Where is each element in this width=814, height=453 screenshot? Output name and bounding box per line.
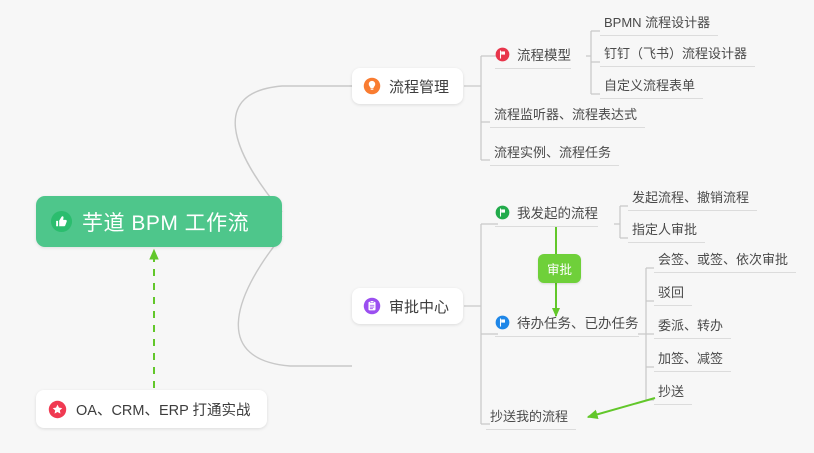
leaf-node[interactable]: BPMN 流程设计器 (600, 12, 718, 36)
lightbulb-pin-icon (363, 77, 381, 95)
thumbs-up-icon (50, 210, 73, 233)
leaf-node[interactable]: 抄送我的流程 (486, 406, 576, 430)
leaf-node[interactable]: 驳回 (654, 282, 692, 306)
flag-icon (495, 47, 510, 62)
branch-node-process-management[interactable]: 流程管理 (352, 68, 463, 104)
mindmap-canvas: 芋道 BPM 工作流 流程管理 流程模型 BPMN 流程设计器 钉钉（飞书）流程… (0, 0, 814, 453)
root-node[interactable]: 芋道 BPM 工作流 (36, 196, 282, 247)
node-label: 流程模型 (517, 44, 571, 64)
leaf-node[interactable]: 加签、减签 (654, 348, 731, 372)
leaf-node[interactable]: 流程监听器、流程表达式 (490, 104, 645, 128)
leaf-node[interactable]: 流程实例、流程任务 (490, 142, 619, 166)
note-label: OA、CRM、ERP 打通实战 (76, 399, 251, 420)
leaf-node[interactable]: 指定人审批 (628, 219, 705, 243)
branch-label: 审批中心 (389, 296, 449, 317)
leaf-node[interactable]: 发起流程、撤销流程 (628, 187, 757, 211)
leaf-node[interactable]: 钉钉（飞书）流程设计器 (600, 43, 755, 67)
flag-icon (495, 205, 510, 220)
flag-icon (495, 315, 510, 330)
root-label: 芋道 BPM 工作流 (82, 207, 249, 237)
leaf-node[interactable]: 抄送 (654, 381, 692, 405)
node-todo-done-tasks[interactable]: 待办任务、已办任务 (495, 312, 639, 337)
note-node-integration[interactable]: OA、CRM、ERP 打通实战 (36, 390, 267, 428)
clipboard-icon (363, 297, 381, 315)
node-my-initiated[interactable]: 我发起的流程 (495, 202, 598, 227)
node-process-model[interactable]: 流程模型 (495, 44, 571, 69)
star-badge-icon (48, 400, 67, 419)
node-label: 待办任务、已办任务 (517, 312, 639, 332)
leaf-node[interactable]: 自定义流程表单 (600, 75, 703, 99)
branch-label: 流程管理 (389, 76, 449, 97)
branch-node-approval-center[interactable]: 审批中心 (352, 288, 463, 324)
callout-approval[interactable]: 审批 (538, 254, 581, 283)
node-label: 我发起的流程 (517, 202, 598, 222)
leaf-node[interactable]: 会签、或签、依次审批 (654, 249, 796, 273)
leaf-node[interactable]: 委派、转办 (654, 315, 731, 339)
